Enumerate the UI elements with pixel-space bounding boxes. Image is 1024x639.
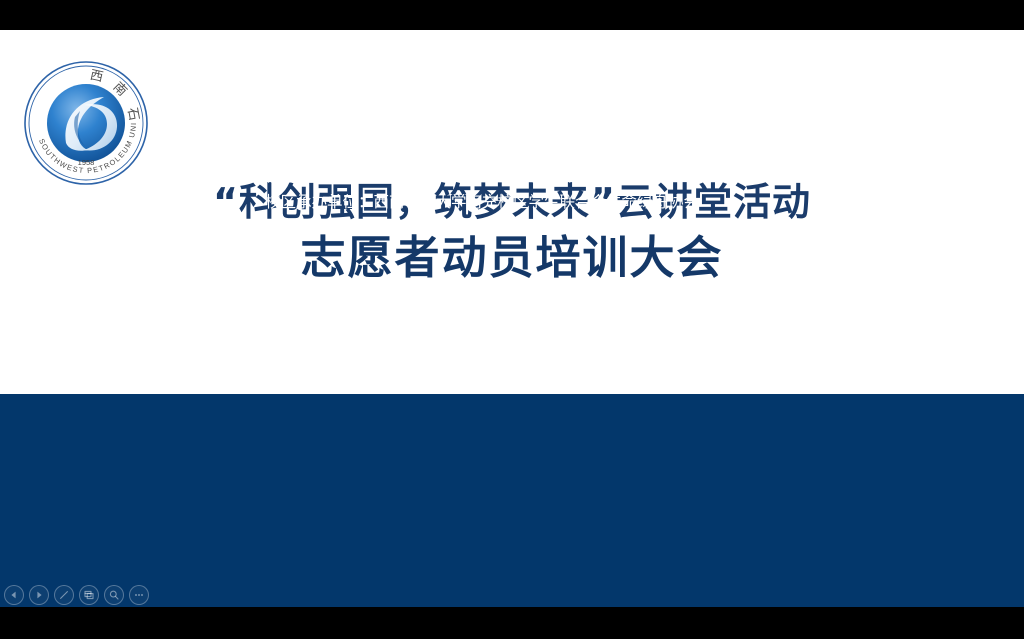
more-options-button[interactable] bbox=[129, 585, 149, 605]
svg-text:油: 油 bbox=[22, 59, 29, 63]
annotate-button[interactable] bbox=[54, 585, 74, 605]
chevron-right-icon bbox=[33, 589, 45, 601]
slide-viewer: 西 南 石 油 大 学 bbox=[0, 0, 1024, 639]
ellipsis-icon bbox=[133, 589, 145, 601]
presentation-slide: 西 南 石 油 大 学 bbox=[0, 30, 1024, 607]
credit-line-campus-host: 校区承办单位：西南石油大学南充校区学生联合会生命绿舟协会 bbox=[265, 189, 699, 215]
slide-lower-blue-band bbox=[0, 394, 1024, 607]
chevron-left-icon bbox=[8, 589, 20, 601]
viewer-toolbar bbox=[4, 585, 149, 605]
thumbnails-button[interactable] bbox=[79, 585, 99, 605]
svg-text:大: 大 bbox=[22, 59, 29, 63]
pen-icon bbox=[58, 589, 70, 601]
credit-line-school-unit: 校方单位：西南石油大学南充校区学生发展部团委 bbox=[265, 163, 699, 189]
credit-line-organiser: 主办单位：中国光华科技基金会 bbox=[265, 137, 699, 163]
magnifier-icon bbox=[108, 589, 120, 601]
organiser-credits: 主办单位：中国光华科技基金会 校方单位：西南石油大学南充校区学生发展部团委 校区… bbox=[265, 137, 699, 215]
viewer-bottom-letterbox bbox=[0, 607, 1024, 639]
svg-text:1958: 1958 bbox=[78, 158, 95, 167]
svg-text:石: 石 bbox=[124, 106, 141, 122]
zoom-button[interactable] bbox=[104, 585, 124, 605]
viewer-top-letterbox bbox=[0, 0, 1024, 30]
previous-slide-button[interactable] bbox=[4, 585, 24, 605]
southwest-petroleum-university-logo: 西 南 石 油 大 学 bbox=[22, 59, 150, 187]
svg-text:学: 学 bbox=[22, 59, 29, 63]
slide-title-line-2: 志愿者动员培训大会 bbox=[0, 229, 1024, 288]
next-slide-button[interactable] bbox=[29, 585, 49, 605]
grid-icon bbox=[83, 589, 95, 601]
